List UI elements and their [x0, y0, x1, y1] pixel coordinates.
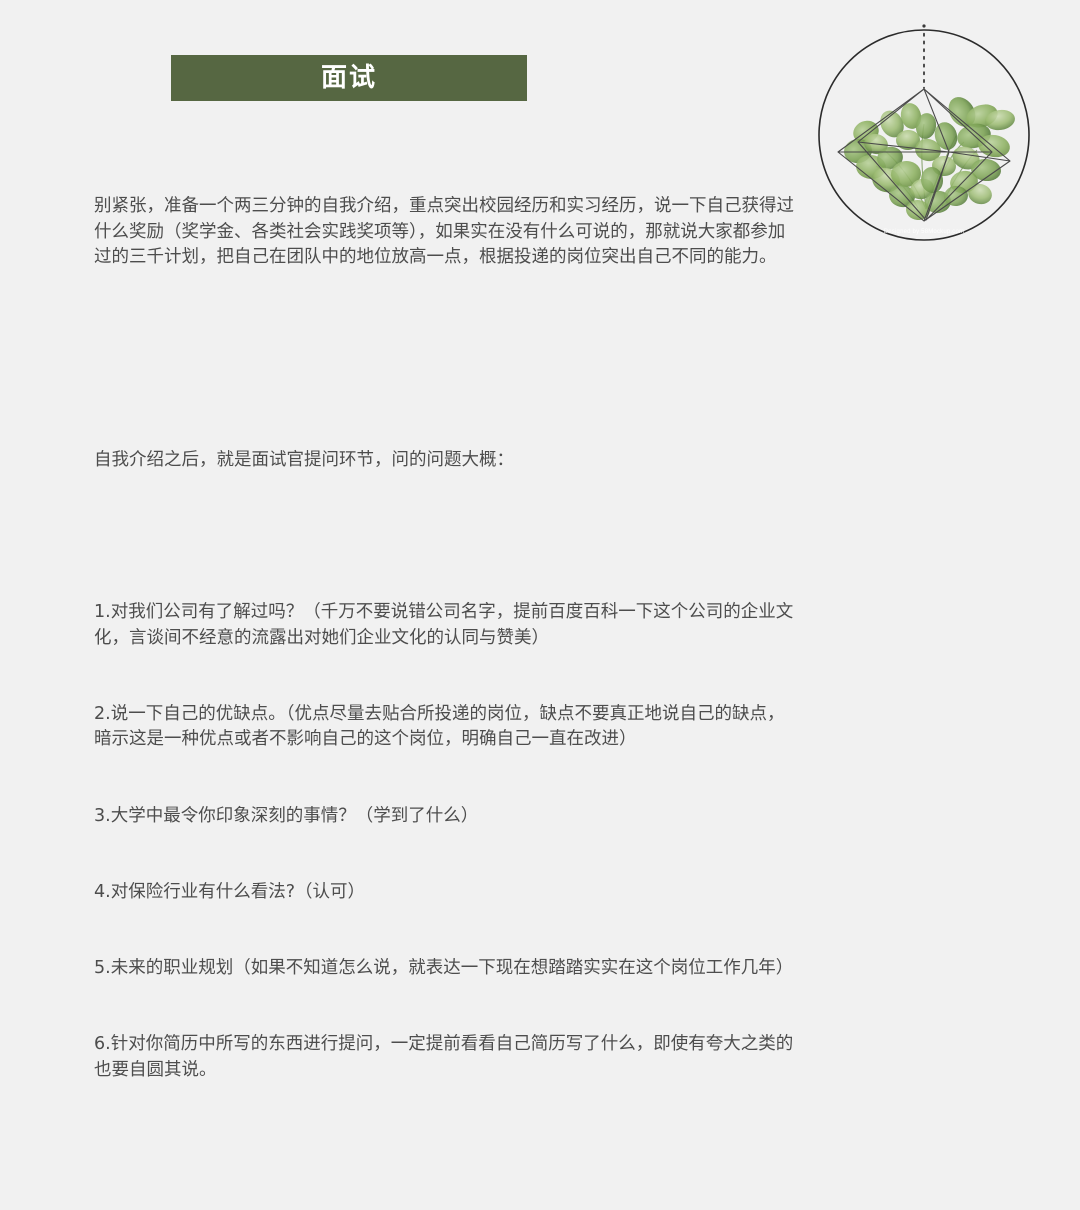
plant-terrarium-illustration: Designed by 58Mockup.com [814, 24, 1034, 244]
slide-canvas: 面试 别紧张，准备一个两三分钟的自我介绍，重点突出校园经历和实习经历，说一下自己… [0, 0, 1080, 608]
questions-list: 1.对我们公司有了解过吗？（千万不要说错公司名字，提前百度百科一下这个公司的企业… [94, 550, 794, 1134]
title-banner: 面试 [171, 55, 527, 101]
leaf-cluster-icon [842, 92, 1016, 222]
page-title: 面试 [321, 65, 377, 91]
list-item: 4.对保险行业有什么看法?（认可） [94, 880, 794, 905]
list-item: 2.说一下自己的优缺点。（优点尽量去贴合所投递的岗位，缺点不要真正地说自己的缺点… [94, 702, 794, 753]
list-item: 3.大学中最令你印象深刻的事情？（学到了什么） [94, 804, 794, 829]
list-item: 5.未来的职业规划（如果不知道怎么说，就表达一下现在想踏踏实实在这个岗位工作几年… [94, 956, 794, 981]
body-content: 别紧张，准备一个两三分钟的自我介绍，重点突出校园经历和实习经历，说一下自己获得过… [94, 118, 794, 1210]
intro-paragraph: 别紧张，准备一个两三分钟的自我介绍，重点突出校园经历和实习经历，说一下自己获得过… [94, 194, 794, 270]
cord-hook-icon [922, 24, 925, 27]
list-item: 6.针对你简历中所写的东西进行提问，一定提前看看自己简历写了什么，即使有夸大之类… [94, 1032, 794, 1083]
questions-lead-in: 自我介绍之后，就是面试官提问环节，问的问题大概： [94, 448, 794, 473]
paragraph-spacer [94, 347, 794, 372]
